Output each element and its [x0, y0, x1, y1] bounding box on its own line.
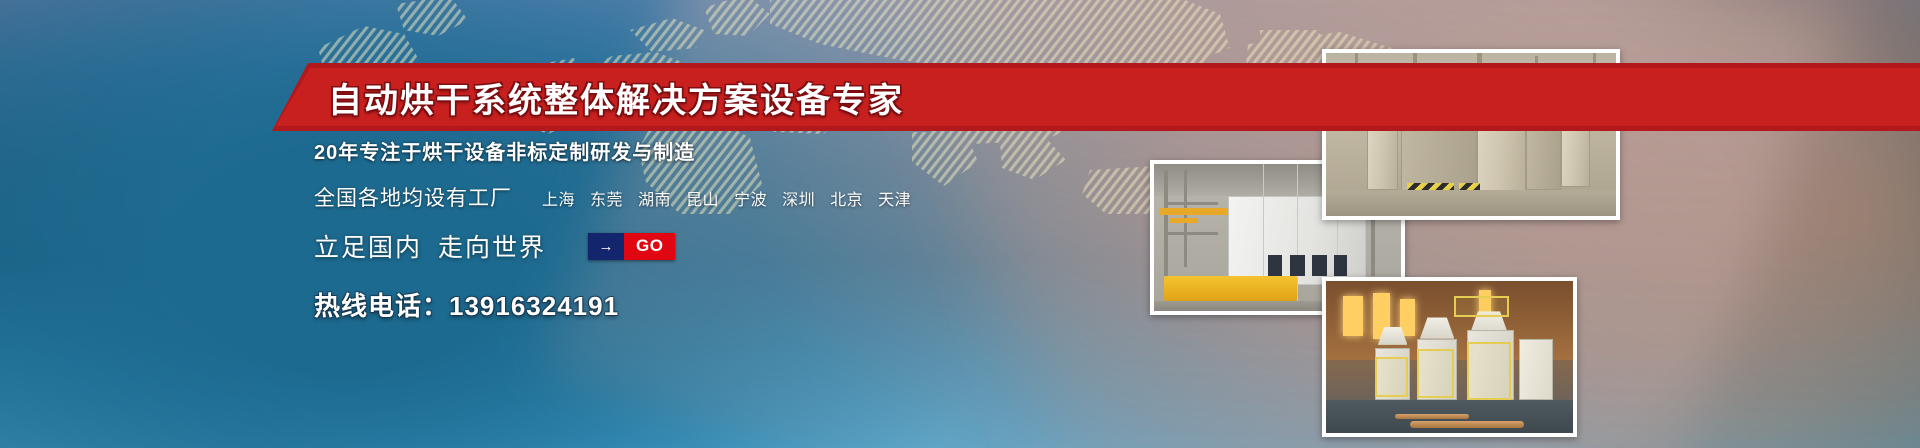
city-item: 东莞 [590, 186, 623, 210]
banner-subtitle: 20年专注于烘干设备非标定制研发与制造 [314, 136, 1074, 165]
city-item: 昆山 [686, 186, 719, 210]
go-button[interactable]: → GO [588, 233, 675, 260]
title-ribbon: 自动烘干系统整体解决方案设备专家 [272, 63, 1920, 131]
banner-title: 自动烘干系统整体解决方案设备专家 [328, 63, 1920, 131]
factory-locations-row: 全国各地均设有工厂 上海 东莞 湖南 昆山 宁波 深圳 北京 天津 [314, 182, 1074, 212]
city-item: 天津 [878, 186, 911, 210]
city-item: 上海 [542, 186, 575, 210]
hotline-phone: 热线电话：13916324191 [314, 286, 1074, 323]
slogan-row: 立足国内 走向世界 → GO [314, 228, 1074, 264]
city-item: 北京 [830, 186, 863, 210]
photo-drying-oven-line-warm-lighting [1322, 277, 1577, 437]
city-list: 上海 东莞 湖南 昆山 宁波 深圳 北京 天津 [542, 186, 911, 210]
city-item: 湖南 [638, 186, 671, 210]
promo-banner: 自动烘干系统整体解决方案设备专家 20年专注于烘干设备非标定制研发与制造 全国各… [0, 0, 1920, 448]
slogan-left: 立足国内 [314, 228, 422, 264]
arrow-right-icon: → [588, 233, 624, 260]
copy-block: 20年专注于烘干设备非标定制研发与制造 全国各地均设有工厂 上海 东莞 湖南 昆… [314, 136, 1074, 323]
go-button-label: GO [624, 233, 675, 260]
factory-label: 全国各地均设有工厂 [314, 182, 512, 212]
slogan-right: 走向世界 [438, 228, 546, 264]
city-item: 深圳 [782, 186, 815, 210]
city-item: 宁波 [734, 186, 767, 210]
